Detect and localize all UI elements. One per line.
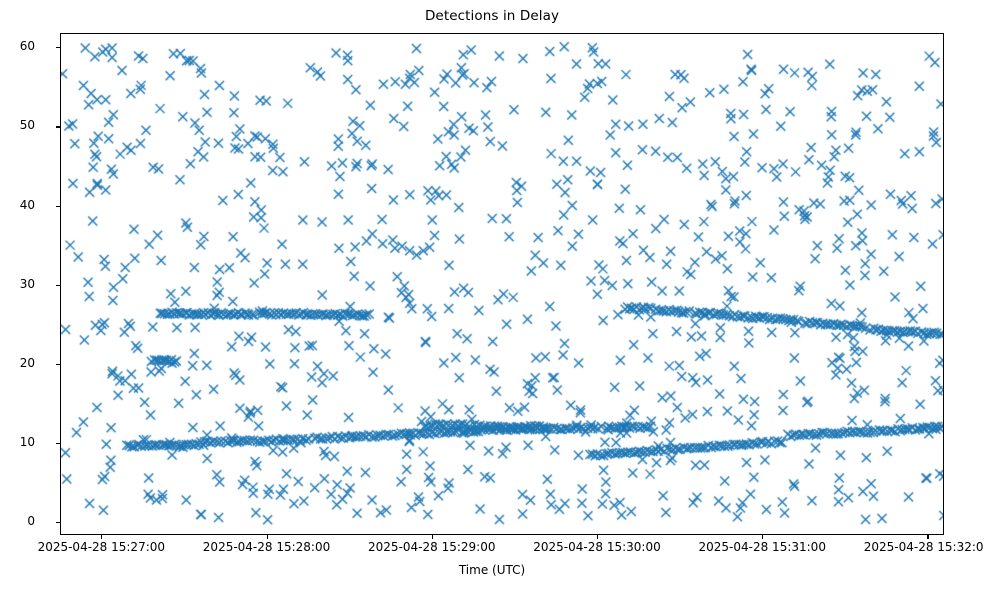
chart-title: Detections in Delay: [0, 8, 984, 24]
x-tick-mark: [762, 535, 763, 539]
x-axis-label: Time (UTC): [0, 563, 984, 577]
y-tick-label: 60: [0, 39, 35, 53]
y-tick-label: 30: [0, 277, 35, 291]
x-tick-mark: [927, 535, 928, 539]
y-tick-label: 50: [0, 118, 35, 132]
x-tick-mark: [267, 535, 268, 539]
y-tick-label: 0: [0, 514, 35, 528]
y-tick-label: 10: [0, 435, 35, 449]
scatter-plot-canvas: [61, 34, 944, 535]
x-tick-label: 2025-04-28 15:32:00: [827, 540, 984, 554]
x-tick-mark: [432, 535, 433, 539]
y-tick-label: 40: [0, 198, 35, 212]
x-tick-mark: [597, 535, 598, 539]
x-tick-mark: [101, 535, 102, 539]
figure: Detections in Delay Bistatic Delay (km) …: [0, 0, 984, 590]
y-tick-label: 20: [0, 356, 35, 370]
plot-area: [60, 33, 944, 535]
